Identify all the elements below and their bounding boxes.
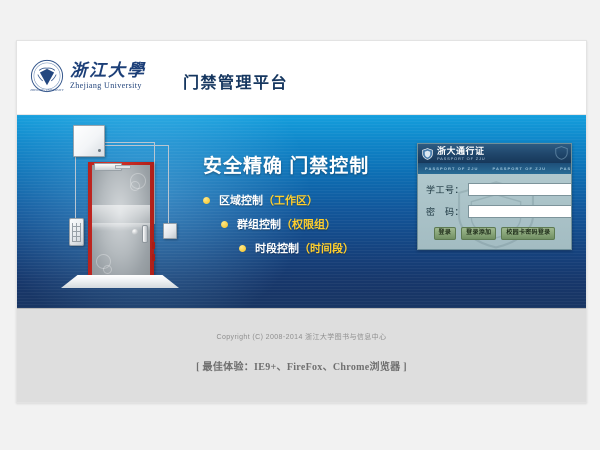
- door-panel: [92, 165, 150, 279]
- login-add-button[interactable]: 登录添加: [461, 227, 496, 240]
- site-footer: Copyright (C) 2008-2014 浙江大学图书与信息中心 [ 最佳…: [17, 308, 586, 403]
- band-token: PASSPORT OF ZJU: [553, 166, 571, 171]
- userid-input[interactable]: [468, 183, 572, 196]
- feature-accent: （权限组）: [281, 216, 336, 232]
- login-button[interactable]: 登录: [434, 227, 457, 240]
- logo-text-en: Zhejiang University: [70, 81, 146, 91]
- site-header: ZHEJIANG UNIVERSITY 浙江大學 Zhejiang Univer…: [17, 41, 586, 115]
- door-closer-arm: [115, 165, 131, 169]
- login-button-row: 登录 登录添加 校园卡密码登录: [426, 227, 563, 240]
- login-panel-titlebar: 浙大通行证 PASSPORT OF ZJU: [418, 144, 571, 163]
- password-label: 密 码：: [426, 205, 468, 218]
- logo-text-cn: 浙江大學: [70, 62, 146, 80]
- password-input[interactable]: [468, 205, 572, 218]
- bullet-dot-icon: [203, 197, 210, 204]
- copyright-text: Copyright (C) 2008-2014 浙江大学图书与信息中心: [17, 332, 586, 342]
- gear-motif-icon: [130, 181, 140, 191]
- login-panel-title: 浙大通行证 PASSPORT OF ZJU: [437, 147, 485, 161]
- banner-copy: 安全精确 门禁控制 区域控制 （工作区） 群组控制 （权限组） 时段控制 （时间…: [203, 151, 413, 264]
- card-reader-icon: [163, 223, 177, 239]
- door-handle-icon: [142, 225, 148, 243]
- bullet-dot-icon: [221, 221, 228, 228]
- zju-emblem-icon: ZHEJIANG UNIVERSITY: [30, 59, 64, 93]
- feature-label: 区域控制: [219, 192, 263, 208]
- feature-item-time-control: 时段控制 （时间段）: [239, 240, 413, 256]
- shield-icon: [422, 148, 433, 160]
- access-control-door-illustration: [47, 123, 197, 303]
- browser-support-note: [ 最佳体验：IE9+、FireFox、Chrome浏览器 ]: [17, 358, 586, 373]
- door-icon: [88, 162, 154, 280]
- passport-watermark-band: PASSPORT OF ZJU PASSPORT OF ZJU PASSPORT…: [418, 163, 571, 174]
- feature-accent: （时间段）: [299, 240, 354, 256]
- controller-indicator-dot: [98, 149, 101, 152]
- wire-controller-to-keypad: [75, 155, 76, 218]
- logo-wordmark: 浙江大學 Zhejiang University: [70, 62, 146, 90]
- feature-item-group-control: 群组控制 （权限组）: [221, 216, 413, 232]
- login-panel: 浙大通行证 PASSPORT OF ZJU PASSPORT OF ZJU PA…: [417, 143, 572, 250]
- hero-banner: 安全精确 门禁控制 区域控制 （工作区） 群组控制 （权限组） 时段控制 （时间…: [17, 115, 586, 308]
- bullet-dot-icon: [239, 245, 246, 252]
- band-token: PASSPORT OF ZJU: [418, 166, 486, 171]
- door-hinge-icon: [152, 254, 155, 261]
- field-row-password: 密 码：: [426, 205, 563, 218]
- page-title: 门禁管理平台: [183, 69, 288, 93]
- keypad-grid: [72, 223, 81, 242]
- campus-card-login-button[interactable]: 校园卡密码登录: [501, 227, 555, 240]
- keypad-reader-icon: [69, 218, 84, 246]
- feature-label: 群组控制: [237, 216, 281, 232]
- page-card: ZHEJIANG UNIVERSITY 浙江大學 Zhejiang Univer…: [16, 40, 587, 403]
- feature-label: 时段控制: [255, 240, 299, 256]
- wire-controller-top-c: [103, 145, 169, 146]
- feature-accent: （工作区）: [263, 192, 318, 208]
- wire-controller-top-d: [168, 145, 169, 223]
- footer-content: Copyright (C) 2008-2014 浙江大学图书与信息中心 [ 最佳…: [17, 332, 586, 373]
- door-knob-icon: [132, 229, 138, 235]
- shield-watermark-icon: [555, 146, 568, 160]
- university-logo[interactable]: ZHEJIANG UNIVERSITY 浙江大學 Zhejiang Univer…: [30, 59, 146, 93]
- gear-motif-icon: [103, 265, 112, 274]
- banner-heading: 安全精确 门禁控制: [203, 151, 413, 178]
- floor-plate: [61, 275, 179, 288]
- band-token: PASSPORT OF ZJU: [486, 166, 554, 171]
- feature-item-area-control: 区域控制 （工作区）: [203, 192, 413, 208]
- login-form: 学工号： 密 码： 登录 登录添加 校园卡密码登录: [418, 174, 571, 249]
- svg-text:ZHEJIANG UNIVERSITY: ZHEJIANG UNIVERSITY: [30, 88, 64, 92]
- door-hinge-icon: [152, 242, 155, 249]
- login-title-en: PASSPORT OF ZJU: [437, 157, 485, 161]
- login-title-cn: 浙大通行证: [437, 147, 485, 156]
- controller-box-icon: [73, 125, 105, 157]
- userid-label: 学工号：: [426, 183, 468, 196]
- wire-controller-top-a: [103, 142, 155, 143]
- wire-controller-top-b: [154, 142, 155, 224]
- field-row-userid: 学工号：: [426, 183, 563, 196]
